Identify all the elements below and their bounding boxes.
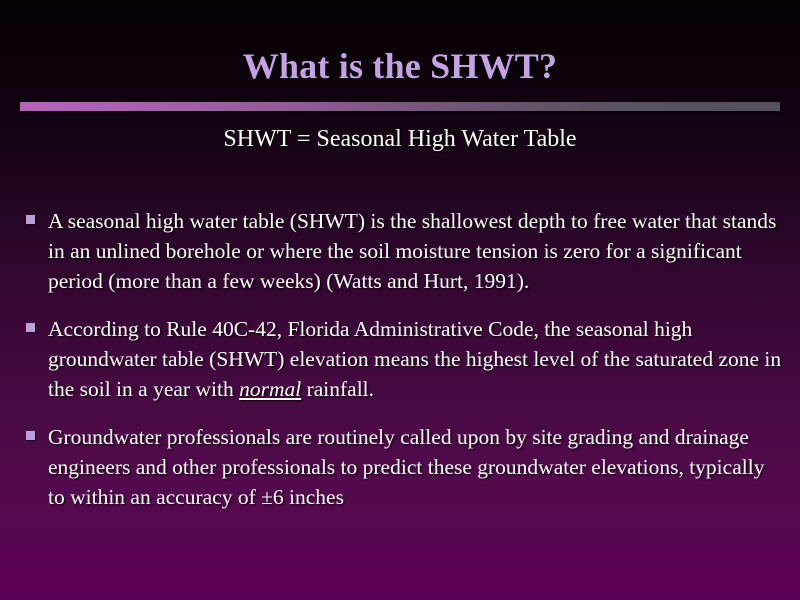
bullet-text-segment-before: According to Rule 40C-42, Florida Admini… — [48, 317, 781, 401]
title-block: What is the SHWT? — [0, 46, 800, 86]
bullet-text-shwt-definition: A seasonal high water table (SHWT) is th… — [48, 206, 782, 296]
bullet-text-rule-40c-42: According to Rule 40C-42, Florida Admini… — [48, 314, 782, 404]
page-title: What is the SHWT? — [243, 46, 557, 86]
slide-subtitle: SHWT = Seasonal High Water Table — [223, 124, 576, 154]
bullet-list: A seasonal high water table (SHWT) is th… — [26, 206, 782, 530]
subtitle-block: SHWT = Seasonal High Water Table — [0, 124, 800, 154]
list-item: Groundwater professionals are routinely … — [26, 422, 782, 512]
square-bullet-icon — [26, 215, 35, 224]
square-bullet-icon — [26, 323, 35, 332]
title-divider-bar — [20, 102, 780, 111]
bullet-text-emphasis-normal: normal — [239, 377, 301, 401]
square-bullet-icon — [26, 431, 35, 440]
bullet-text-segment-after: rainfall. — [301, 377, 374, 401]
list-item: According to Rule 40C-42, Florida Admini… — [26, 314, 782, 404]
bullet-text-groundwater-professionals: Groundwater professionals are routinely … — [48, 422, 782, 512]
presentation-slide: What is the SHWT? SHWT = Seasonal High W… — [0, 0, 800, 600]
list-item: A seasonal high water table (SHWT) is th… — [26, 206, 782, 296]
